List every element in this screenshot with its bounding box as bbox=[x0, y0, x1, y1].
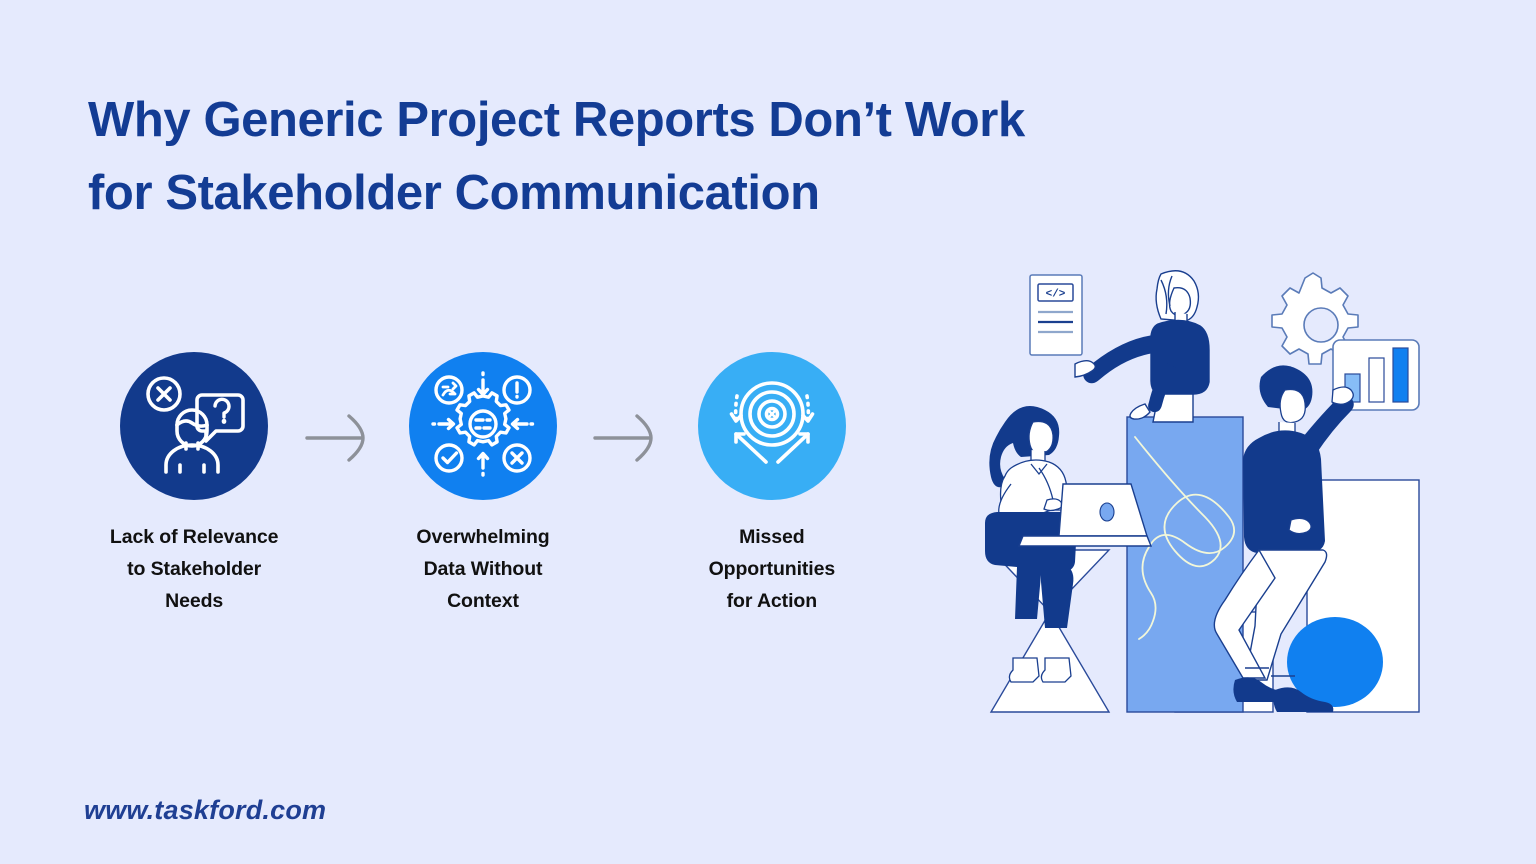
user-question-error-icon bbox=[139, 369, 249, 484]
flow-step-missed-opportunities: Missed Opportunities for Action bbox=[666, 352, 878, 617]
arrow-right-icon bbox=[591, 410, 663, 471]
flow-step-3-circle bbox=[698, 352, 846, 500]
arrow-right-icon bbox=[303, 410, 375, 471]
flow-step-2-label: Overwhelming Data Without Context bbox=[416, 522, 549, 617]
seated-woman-with-laptop bbox=[985, 406, 1151, 682]
flow-connector-1 bbox=[300, 352, 377, 471]
page-title-line-2: for Stakeholder Communication bbox=[88, 157, 1208, 230]
standing-woman-pointing bbox=[1075, 271, 1209, 422]
flow-step-1-label: Lack of Relevance to Stakeholder Needs bbox=[110, 522, 278, 617]
flow-step-1-circle bbox=[120, 352, 268, 500]
page-title-line-1: Why Generic Project Reports Don’t Work bbox=[88, 84, 1208, 157]
flow-step-2-circle bbox=[409, 352, 557, 500]
blue-pillar-with-squiggle bbox=[1127, 417, 1243, 712]
flow-connector-2 bbox=[589, 352, 666, 471]
footer-website-url[interactable]: www.taskford.com bbox=[84, 795, 326, 826]
code-symbol: </> bbox=[1046, 289, 1066, 301]
flow-step-lack-of-relevance: Lack of Relevance to Stakeholder Needs bbox=[88, 352, 300, 617]
gear-data-overload-icon bbox=[427, 368, 539, 485]
flow-step-overwhelming-data: Overwhelming Data Without Context bbox=[377, 352, 589, 617]
code-document-card: </> bbox=[1030, 275, 1082, 355]
missed-target-icon bbox=[716, 368, 828, 485]
flow-step-3-label: Missed Opportunities for Action bbox=[709, 522, 836, 617]
problem-flow-diagram: Lack of Relevance to Stakeholder Needs bbox=[88, 352, 878, 617]
team-collaboration-illustration: </> bbox=[975, 262, 1435, 732]
page-title: Why Generic Project Reports Don’t Work f… bbox=[88, 84, 1208, 229]
